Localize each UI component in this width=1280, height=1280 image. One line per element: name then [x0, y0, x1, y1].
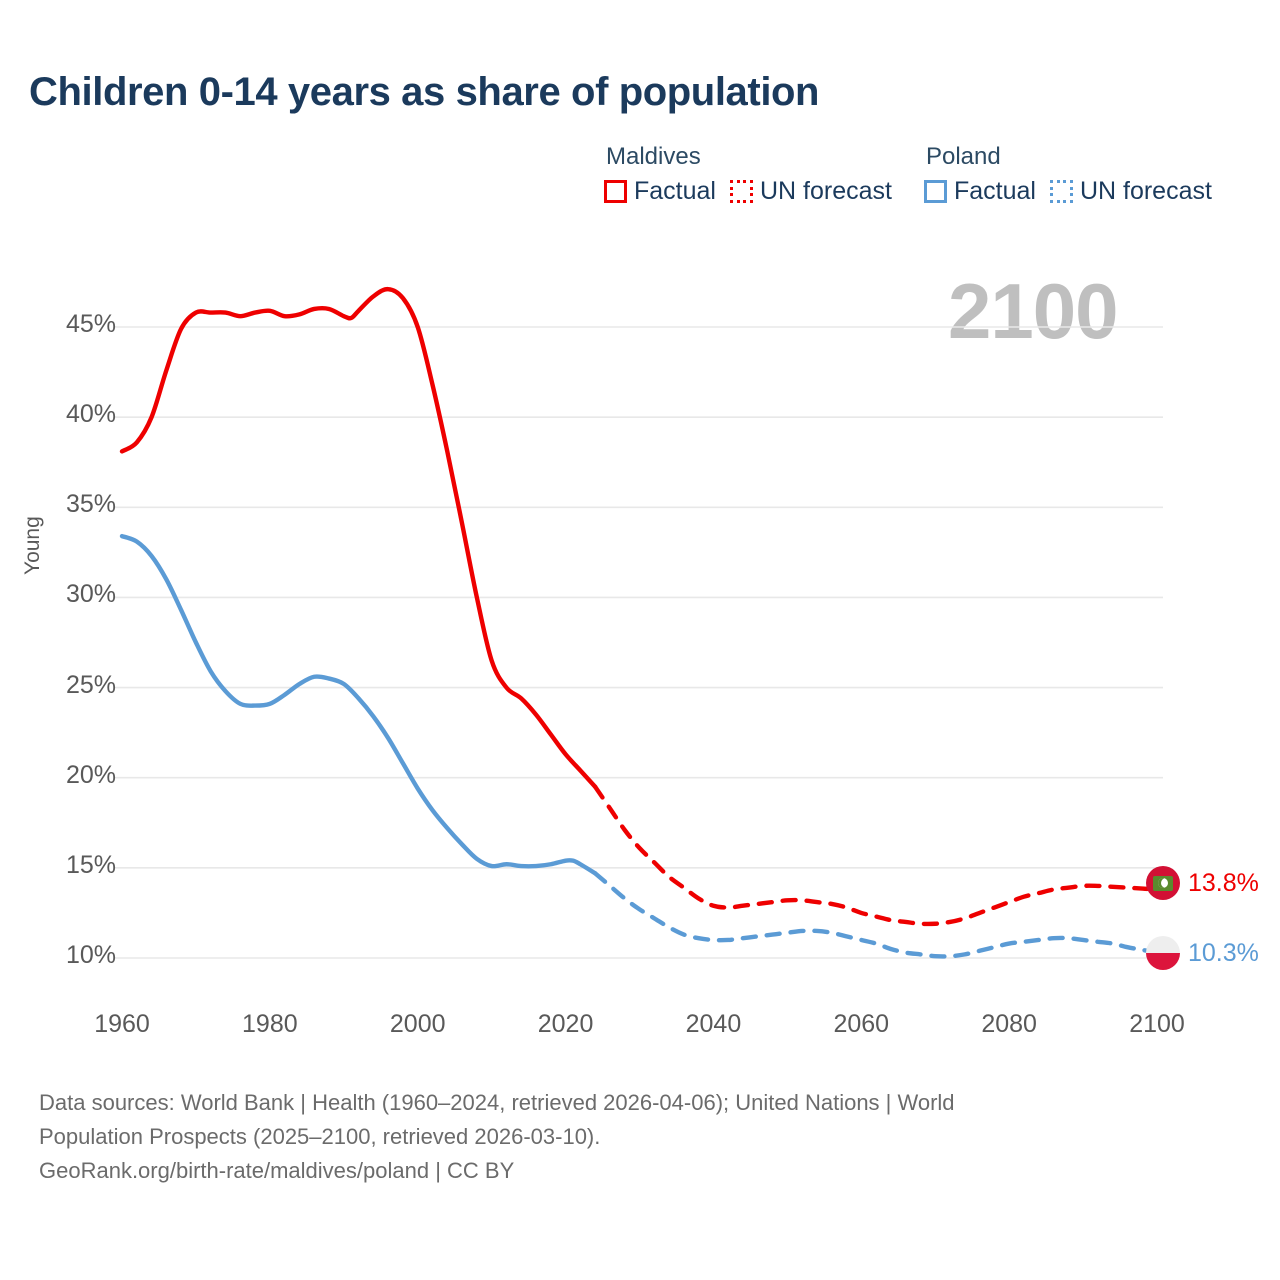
y-tick-label: 20%	[0, 761, 116, 790]
series-line-maldives-forecast	[595, 787, 1157, 924]
series-line-poland-forecast	[595, 873, 1157, 956]
legend-item-maldives-forecast[interactable]: UN forecast	[730, 177, 892, 206]
y-tick: 15%	[0, 851, 116, 880]
y-tick: 25%	[0, 671, 116, 700]
y-axis-label: Young	[21, 516, 45, 575]
page-title: Children 0-14 years as share of populati…	[29, 70, 819, 115]
chart-footer: Data sources: World Bank | Health (1960–…	[39, 1086, 1169, 1188]
legend-label-maldives-forecast: UN forecast	[760, 177, 892, 206]
legend-label-poland-forecast: UN forecast	[1080, 177, 1212, 206]
footer-line-2: Population Prospects (2025–2100, retriev…	[39, 1120, 1169, 1154]
poland-endpoint-value: 10.3%	[1188, 939, 1259, 968]
poland-flag-icon	[1146, 936, 1180, 970]
x-tick-label: 1980	[242, 1010, 298, 1039]
x-tick-label: 2040	[686, 1010, 742, 1039]
legend-item-maldives-factual[interactable]: Factual	[604, 177, 716, 206]
y-tick-label: 15%	[0, 851, 116, 880]
chart-legend: Maldives Factual UN forecast Poland Fact…	[604, 143, 1212, 206]
legend-swatch-dotted-icon	[730, 180, 753, 203]
y-tick-label: 40%	[0, 400, 116, 429]
legend-swatch-solid-icon	[924, 180, 947, 203]
x-tick-label: 1960	[94, 1010, 150, 1039]
y-tick: 30%	[0, 580, 116, 609]
series-line-poland-factual	[122, 536, 595, 873]
legend-group-maldives: Maldives Factual UN forecast	[604, 143, 892, 206]
x-tick-label: 2100	[1129, 1010, 1185, 1039]
y-tick: 40%	[0, 400, 116, 429]
y-tick: 45%	[0, 310, 116, 339]
footer-line-3: GeoRank.org/birth-rate/maldives/poland |…	[39, 1154, 1169, 1188]
legend-country-maldives: Maldives	[604, 143, 892, 171]
y-tick-label: 30%	[0, 580, 116, 609]
legend-group-poland: Poland Factual UN forecast	[924, 143, 1212, 206]
footer-line-1: Data sources: World Bank | Health (1960–…	[39, 1086, 1169, 1120]
legend-item-poland-factual[interactable]: Factual	[924, 177, 1036, 206]
maldives-flag-icon	[1146, 866, 1180, 900]
y-tick: 20%	[0, 761, 116, 790]
x-tick-label: 2080	[981, 1010, 1037, 1039]
legend-swatch-solid-icon	[604, 180, 627, 203]
legend-country-poland: Poland	[924, 143, 1212, 171]
y-tick-label: 35%	[0, 490, 116, 519]
y-tick-label: 45%	[0, 310, 116, 339]
year-watermark: 2100	[948, 272, 1118, 350]
x-tick-label: 2060	[833, 1010, 889, 1039]
legend-item-poland-forecast[interactable]: UN forecast	[1050, 177, 1212, 206]
maldives-endpoint-value: 13.8%	[1188, 869, 1259, 898]
legend-swatch-dotted-icon	[1050, 180, 1073, 203]
y-tick-label: 10%	[0, 941, 116, 970]
legend-label-poland-factual: Factual	[954, 177, 1036, 206]
x-tick-label: 2020	[538, 1010, 594, 1039]
y-tick: 35%	[0, 490, 116, 519]
x-tick-label: 2000	[390, 1010, 446, 1039]
y-tick-label: 25%	[0, 671, 116, 700]
series-line-maldives-factual	[122, 289, 595, 787]
y-tick: 10%	[0, 941, 116, 970]
legend-label-maldives-factual: Factual	[634, 177, 716, 206]
